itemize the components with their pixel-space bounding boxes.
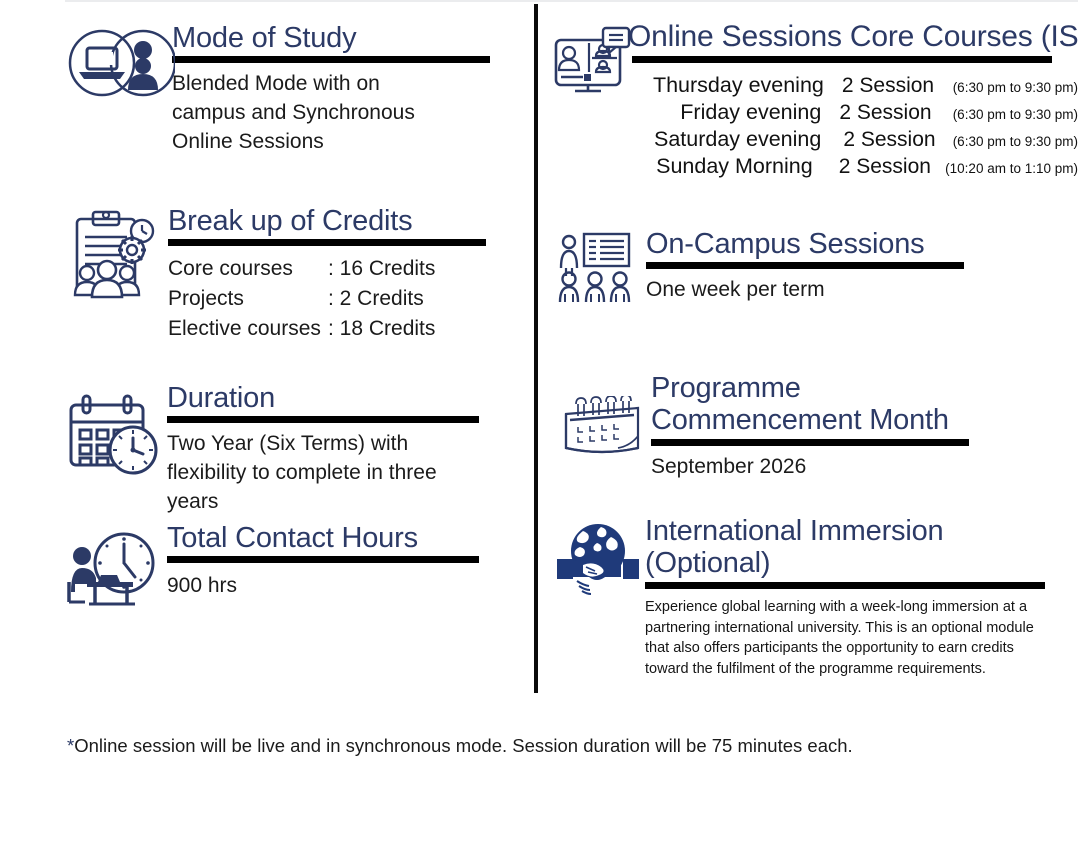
credits-list: Core courses : 16 Credits Projects : 2 C… (168, 254, 505, 343)
laptop-person-circles-icon (65, 28, 175, 98)
session-row: Thursday evening 2 Session (6:30 pm to 9… (628, 73, 1078, 98)
on-campus-sessions-heading: On-Campus Sessions (646, 228, 1078, 260)
session-count: 2 Session (824, 74, 953, 98)
mode-of-study-heading: Mode of Study (172, 22, 505, 54)
international-immersion-body: Experience global learning with a week-l… (645, 597, 1037, 679)
section-duration: Duration Two Year (Six Terms) with flexi… (65, 382, 505, 517)
session-time: (6:30 pm to 9:30 pm) (953, 80, 1078, 95)
programme-commencement-rule (651, 439, 969, 446)
credit-row: Core courses : 16 Credits (168, 254, 505, 284)
globe-handshake-icon (553, 521, 643, 599)
session-row: Friday evening 2 Session (6:30 pm to 9:3… (628, 100, 1078, 125)
video-conference-icon (553, 26, 633, 96)
break-up-of-credits-heading: Break up of Credits (168, 205, 505, 237)
session-count: 2 Session (813, 155, 943, 179)
section-international-immersion: International Immersion (Optional) Exper… (553, 515, 1078, 679)
person-desk-clock-icon (65, 530, 163, 610)
clipboard-gear-people-icon (65, 207, 160, 302)
international-immersion-heading: International Immersion (Optional) (645, 515, 990, 580)
column-divider (534, 4, 538, 693)
session-row: Sunday Morning 2 Session (10:20 am to 1:… (628, 154, 1078, 179)
duration-heading: Duration (167, 382, 505, 414)
presenter-audience-icon (556, 232, 641, 304)
session-day: Sunday Morning (628, 154, 813, 179)
session-time: (6:30 pm to 9:30 pm) (949, 107, 1078, 122)
section-programme-commencement: Programme Commencement Month September 2… (558, 372, 1078, 482)
section-mode-of-study: Mode of Study Blended Mode with on campu… (65, 22, 505, 157)
credit-value: : 18 Credits (328, 314, 448, 344)
session-day: Friday evening (628, 100, 821, 125)
section-on-campus-sessions: On-Campus Sessions One week per term (556, 228, 1078, 305)
section-online-sessions: Online Sessions Core Courses (IST)* Thur… (553, 20, 1078, 181)
credit-label: Projects (168, 284, 328, 314)
credit-label: Elective courses (168, 314, 328, 344)
session-time: (6:30 pm to 9:30 pm) (953, 134, 1078, 149)
total-contact-hours-heading: Total Contact Hours (167, 522, 505, 554)
online-sessions-table: Thursday evening 2 Session (6:30 pm to 9… (628, 73, 1078, 179)
session-row: Saturday evening 2 Session (6:30 pm to 9… (628, 127, 1078, 152)
online-sessions-heading: Online Sessions Core Courses (IST)* (628, 20, 1078, 54)
total-contact-hours-body: 900 hrs (167, 572, 505, 601)
on-campus-sessions-rule (646, 262, 964, 269)
credit-label: Core courses (168, 254, 328, 284)
session-day: Thursday evening (628, 73, 824, 98)
section-total-contact-hours: Total Contact Hours 900 hrs (65, 522, 505, 601)
duration-rule (167, 416, 479, 423)
section-break-up-of-credits: Break up of Credits Core courses : 16 Cr… (65, 205, 505, 344)
session-count: 2 Session (821, 101, 948, 125)
international-immersion-rule (645, 582, 1045, 589)
mode-of-study-body: Blended Mode with on campus and Synchron… (172, 70, 457, 157)
session-day: Saturday evening (628, 127, 821, 152)
total-contact-hours-rule (167, 556, 479, 563)
credit-value: : 2 Credits (328, 284, 448, 314)
programme-commencement-heading: Programme Commencement Month (651, 372, 991, 437)
duration-body: Two Year (Six Terms) with flexibility to… (167, 430, 467, 517)
credit-row: Elective courses : 18 Credits (168, 314, 505, 344)
on-campus-sessions-body: One week per term (646, 276, 1078, 305)
online-sessions-rule (632, 56, 1052, 63)
credit-row: Projects : 2 Credits (168, 284, 505, 314)
programme-commencement-body: September 2026 (651, 453, 1078, 482)
footnote-text: Online session will be live and in synch… (74, 735, 852, 756)
session-count: 2 Session (821, 128, 952, 152)
desk-calendar-icon (558, 396, 646, 458)
break-up-of-credits-rule (168, 239, 486, 246)
calendar-clock-icon (65, 392, 163, 477)
session-time: (10:20 am to 1:10 pm) (943, 161, 1078, 176)
footnote: *Online session will be live and in sync… (67, 735, 853, 757)
top-hairline (65, 0, 1078, 2)
mode-of-study-rule (172, 56, 490, 63)
credit-value: : 16 Credits (328, 254, 448, 284)
